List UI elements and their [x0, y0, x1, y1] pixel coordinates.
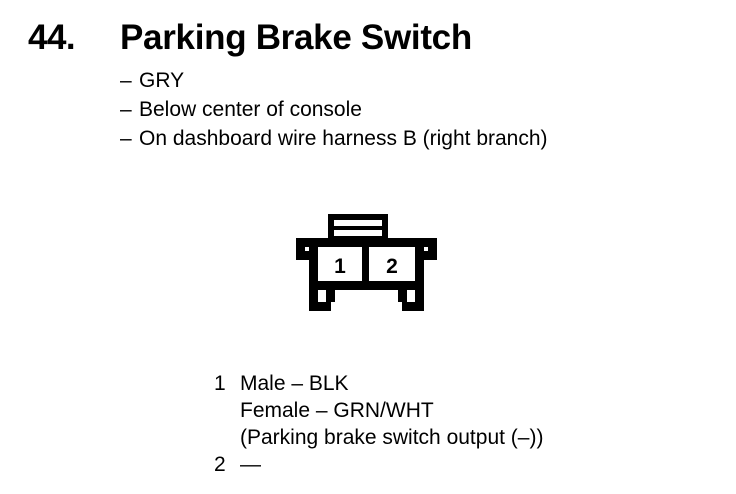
pin-legend: 1 Male – BLK 1 Female – GRN/WHT 1 (Parki…	[214, 370, 694, 478]
legend-pin-number: 1	[214, 370, 240, 397]
page-heading: 44. Parking Brake Switch	[28, 16, 708, 60]
connector-housing-body	[296, 238, 437, 311]
page-title: Parking Brake Switch	[120, 16, 472, 60]
legend-row: 1 (Parking brake switch output (–))	[214, 424, 694, 451]
list-item-label: Below center of console	[139, 95, 362, 124]
list-item: – On dashboard wire harness B (right bra…	[120, 124, 720, 153]
dash-bullet-icon: –	[120, 66, 139, 95]
connector-diagram-page: 44. Parking Brake Switch – GRY – Below c…	[0, 0, 736, 494]
dash-bullet-icon: –	[120, 95, 139, 124]
detail-bullet-list: – GRY – Below center of console – On das…	[120, 66, 720, 153]
pin-number-2: 2	[386, 255, 398, 278]
legend-row: 1 Female – GRN/WHT	[214, 397, 694, 424]
legend-pin-description: —	[240, 451, 261, 478]
connector-illustration: 1 2	[285, 205, 455, 323]
list-item-label: GRY	[139, 66, 184, 95]
list-item: – Below center of console	[120, 95, 720, 124]
legend-row: 1 Male – BLK	[214, 370, 694, 397]
legend-row: 2 —	[214, 451, 694, 478]
dash-bullet-icon: –	[120, 124, 139, 153]
pin-number-1: 1	[334, 255, 346, 278]
list-item: – GRY	[120, 66, 720, 95]
two-pin-connector-drawing: 1 2	[285, 205, 455, 323]
list-item-label: On dashboard wire harness B (right branc…	[139, 124, 548, 153]
legend-pin-description: Male – BLK	[240, 370, 349, 397]
legend-pin-description: Female – GRN/WHT	[240, 397, 434, 424]
legend-pin-number: 2	[214, 451, 240, 478]
heading-number: 44.	[28, 16, 120, 60]
legend-pin-description: (Parking brake switch output (–))	[240, 424, 543, 451]
